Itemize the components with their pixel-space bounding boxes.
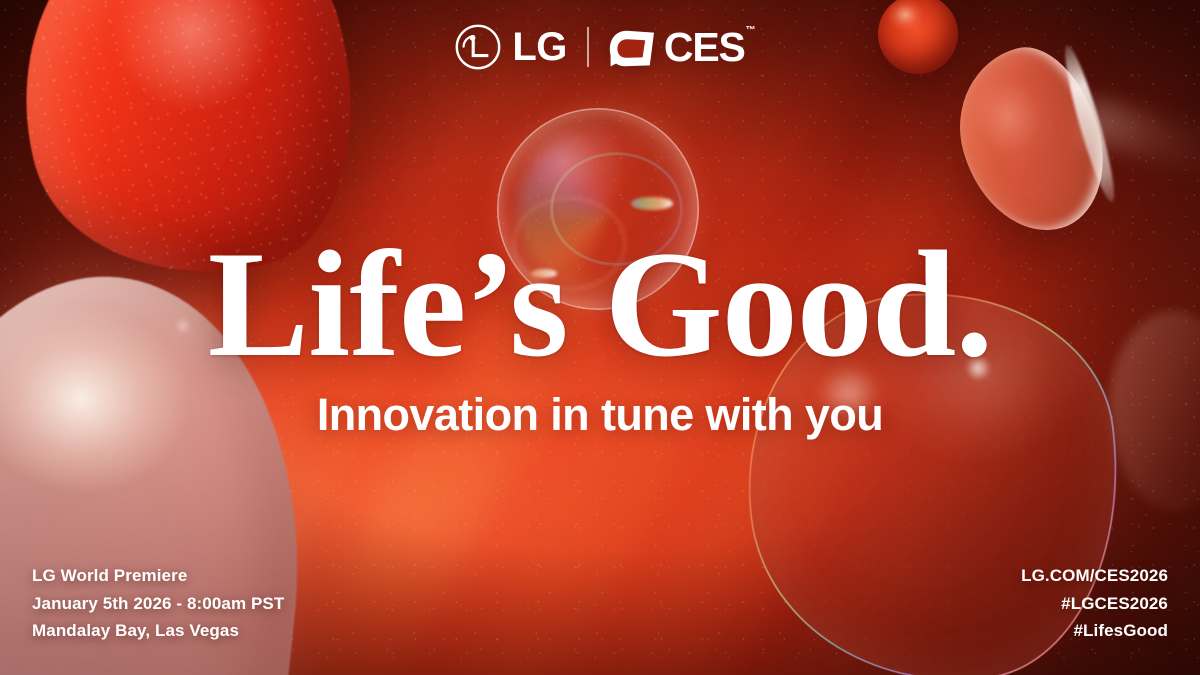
ces-keyvisual-banner: LG CES™ Life’s Good. Innovation in tune … — [0, 0, 1200, 675]
ces-angular-mark-icon — [609, 30, 655, 67]
hashtag-event[interactable]: #LGCES2026 — [1021, 590, 1168, 618]
hero-subheadline: Innovation in tune with you — [0, 392, 1200, 437]
ces-logo[interactable]: CES™ — [609, 27, 745, 68]
website-url[interactable]: LG.COM/CES2026 — [1021, 562, 1168, 590]
hashtag-brand[interactable]: #LifesGood — [1021, 617, 1168, 645]
logo-divider — [587, 27, 589, 67]
hero-headline: Life’s Good. — [0, 228, 1200, 380]
lg-logo[interactable]: LG — [455, 24, 567, 70]
event-details: LG World Premiere January 5th 2026 - 8:0… — [32, 562, 284, 645]
ces-wordmark-text: CES — [664, 24, 745, 70]
ces-trademark-symbol: ™ — [746, 26, 756, 36]
links-block: LG.COM/CES2026 #LGCES2026 #LifesGood — [1021, 562, 1168, 645]
brand-lockup: LG CES™ — [0, 24, 1200, 70]
event-name: LG World Premiere — [32, 562, 284, 590]
event-venue: Mandalay Bay, Las Vegas — [32, 617, 284, 645]
ces-wordmark: CES™ — [664, 27, 745, 68]
lg-smiley-face-icon — [455, 24, 501, 70]
lg-wordmark: LG — [512, 27, 567, 67]
event-datetime: January 5th 2026 - 8:00am PST — [32, 590, 284, 618]
